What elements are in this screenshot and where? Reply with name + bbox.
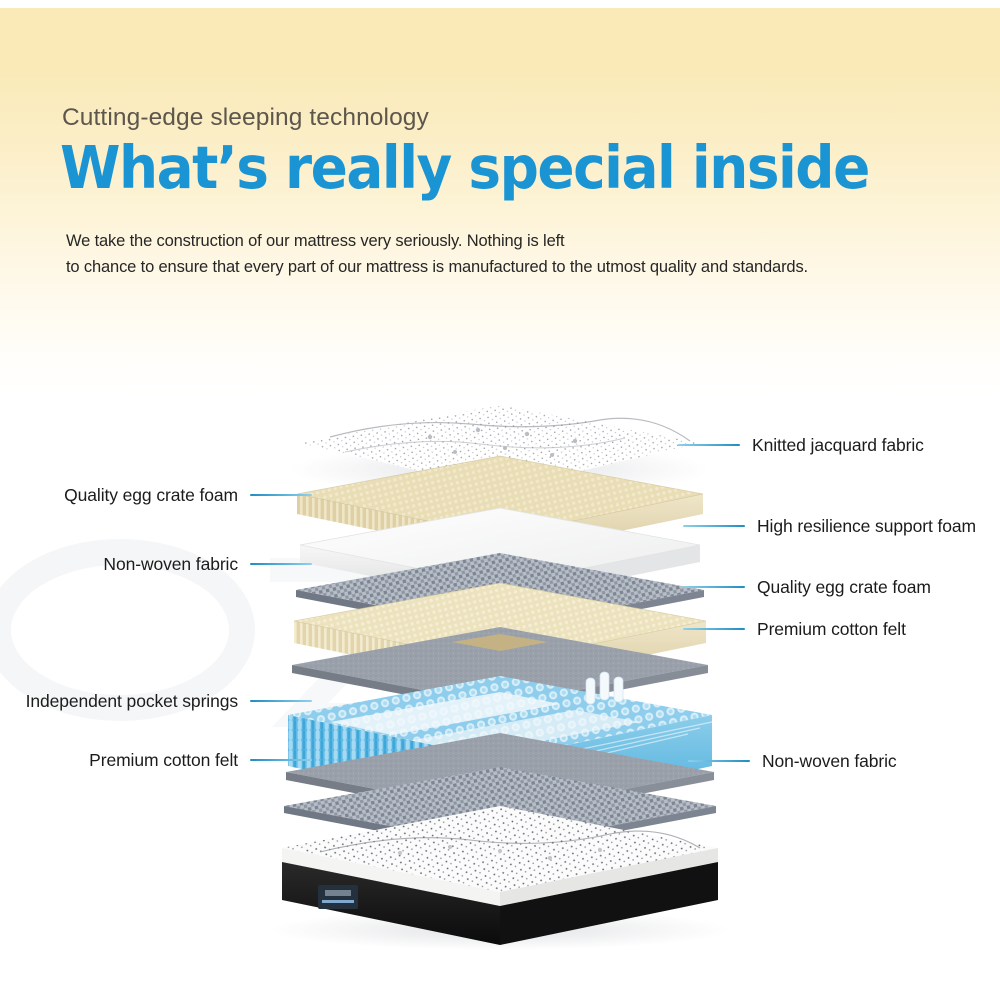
callout-knitted-jacquard-fabric: Knitted jacquard fabric xyxy=(752,435,924,456)
body-copy-line-1: We take the construction of our mattress… xyxy=(66,228,808,254)
callout-premium-cotton-felt-right: Premium cotton felt xyxy=(757,619,906,640)
leader-line-independent-pocket-springs xyxy=(250,700,312,702)
infographic-page: Cutting-edge sleeping technology What’s … xyxy=(0,0,1000,1000)
callout-quality-egg-crate-foam-right: Quality egg crate foam xyxy=(757,577,931,598)
leader-line-knitted-jacquard-fabric xyxy=(678,444,740,446)
leader-line-quality-egg-crate-foam-left xyxy=(250,494,312,496)
leader-line-premium-cotton-felt-left xyxy=(250,759,312,761)
callout-non-woven-fabric-left: Non-woven fabric xyxy=(0,554,238,575)
leader-line-high-resilience-support-foam xyxy=(683,525,745,527)
leader-line-non-woven-fabric-right xyxy=(688,760,750,762)
body-copy-line-2: to chance to ensure that every part of o… xyxy=(66,254,808,280)
callout-high-resilience-support-foam: High resilience support foam xyxy=(757,516,976,537)
page-title: What’s really special inside xyxy=(60,138,869,198)
callout-premium-cotton-felt-left: Premium cotton felt xyxy=(0,750,238,771)
callout-non-woven-fabric-right: Non-woven fabric xyxy=(762,751,897,772)
callout-independent-pocket-springs: Independent pocket springs xyxy=(0,691,238,712)
callout-quality-egg-crate-foam-left: Quality egg crate foam xyxy=(0,485,238,506)
leader-line-quality-egg-crate-foam-right xyxy=(683,586,745,588)
eyebrow-text: Cutting-edge sleeping technology xyxy=(62,104,429,132)
leader-line-non-woven-fabric-left xyxy=(250,563,312,565)
leader-line-premium-cotton-felt-right xyxy=(683,628,745,630)
body-copy: We take the construction of our mattress… xyxy=(66,228,808,280)
